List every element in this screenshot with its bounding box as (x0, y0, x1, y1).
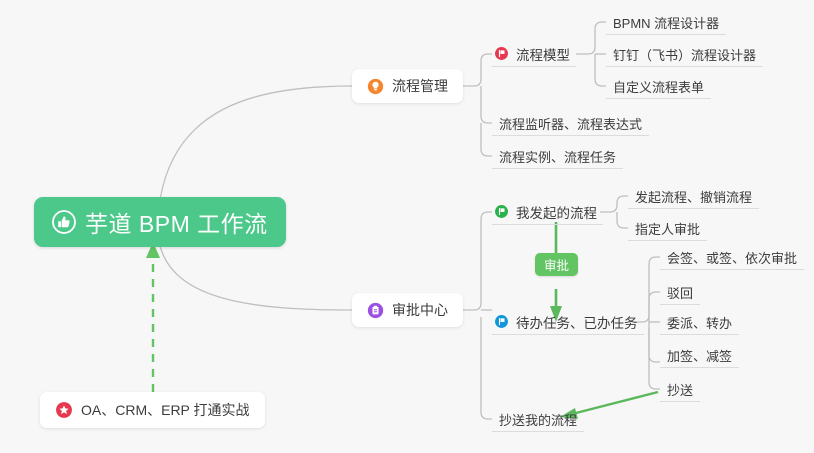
link-pm-bracket (463, 54, 492, 86)
link-todo-bracket-5 (649, 329, 660, 389)
link-mine-bracket-1 (600, 196, 628, 212)
floating-node-integration[interactable]: OA、CRM、ERP 打通实战 (40, 392, 265, 428)
leaf-bpmn-designer[interactable]: BPMN 流程设计器 (606, 10, 726, 35)
link-ac-bracket-bot (481, 317, 492, 419)
node-label: 流程模型 (516, 44, 570, 64)
link-mine-bracket-2 (617, 212, 628, 228)
leaf-reject[interactable]: 驳回 (660, 280, 700, 305)
link-ac-bracket-top (463, 212, 492, 310)
clipboard-icon (367, 302, 384, 319)
branch-label: 流程管理 (392, 76, 448, 96)
link-root-to-process-management (160, 86, 352, 200)
node-label: 我发起的流程 (516, 202, 597, 222)
branch-approval-center[interactable]: 审批中心 (352, 293, 463, 327)
leaf-delegate-transfer[interactable]: 委派、转办 (660, 310, 739, 335)
leaf-start-cancel-process[interactable]: 发起流程、撤销流程 (628, 184, 759, 209)
leaf-listener-expression[interactable]: 流程监听器、流程表达式 (492, 111, 649, 136)
branch-process-management[interactable]: 流程管理 (352, 69, 463, 103)
node-todo-done-tasks[interactable]: 待办任务、已办任务 (492, 309, 644, 335)
root-node[interactable]: 芋道 BPM 工作流 (34, 197, 286, 247)
branch-label: 审批中心 (392, 300, 448, 320)
annotation-approval-tag: 审批 (535, 253, 578, 276)
flag-icon (494, 46, 509, 61)
leaf-countersign-orsign-sequential[interactable]: 会签、或签、依次审批 (660, 245, 804, 270)
leaf-add-remove-sign[interactable]: 加签、减签 (660, 343, 739, 368)
node-my-initiated-process[interactable]: 我发起的流程 (492, 199, 603, 225)
floating-node-label: OA、CRM、ERP 打通实战 (81, 400, 250, 420)
flag-icon (494, 314, 509, 329)
leaf-cc-my-process[interactable]: 抄送我的流程 (492, 407, 584, 432)
leaf-custom-process-form[interactable]: 自定义流程表单 (606, 74, 711, 99)
link-model-bracket (576, 22, 606, 54)
mindmap-canvas: 芋道 BPM 工作流 流程管理 审批中心 (0, 0, 814, 453)
thumbs-up-icon (52, 210, 76, 234)
link-model-bracket-3 (595, 54, 606, 86)
link-todo-bracket-2 (649, 292, 660, 322)
node-label: 待办任务、已办任务 (516, 312, 638, 332)
leaf-dingtalk-feishu-designer[interactable]: 钉钉（飞书）流程设计器 (606, 42, 763, 67)
lightbulb-icon (367, 78, 384, 95)
link-pm-bracket-2 (481, 93, 492, 123)
star-icon (55, 401, 73, 419)
leaf-designated-approver[interactable]: 指定人审批 (628, 216, 707, 241)
link-root-to-approval-center (160, 246, 352, 310)
integration-dashed-arrow (146, 242, 160, 392)
link-pm-bracket-3 (481, 123, 492, 156)
leaf-instance-task[interactable]: 流程实例、流程任务 (492, 144, 623, 169)
flag-icon (494, 204, 509, 219)
root-label: 芋道 BPM 工作流 (85, 205, 268, 239)
link-todo-bracket-4 (649, 322, 660, 362)
node-process-model[interactable]: 流程模型 (492, 41, 576, 67)
leaf-carbon-copy[interactable]: 抄送 (660, 377, 700, 402)
